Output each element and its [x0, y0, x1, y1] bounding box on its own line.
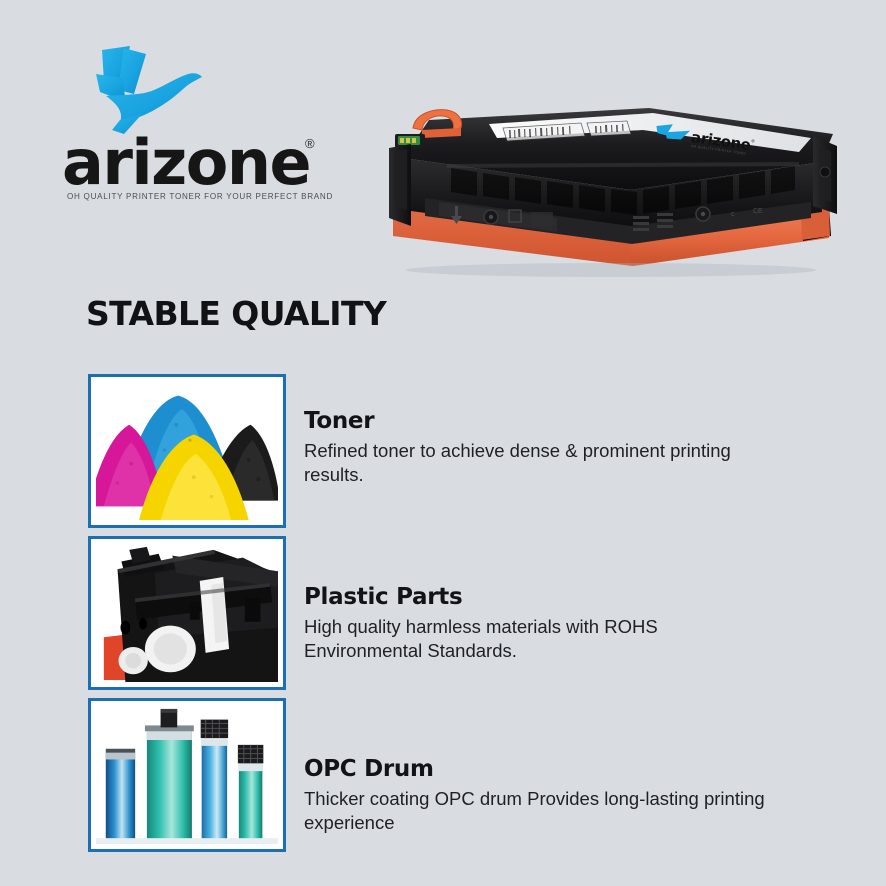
- feature-item-opc-drum: OPC Drum Thicker coating OPC drum Provid…: [88, 698, 808, 852]
- section-heading: STABLE QUALITY: [86, 294, 386, 333]
- feature-item-plastic-parts: Plastic Parts High quality harmless mate…: [88, 536, 808, 690]
- feature-list: Toner Refined toner to achieve dense & p…: [88, 374, 808, 860]
- plastic-parts-text-block: Plastic Parts High quality harmless mate…: [286, 536, 808, 663]
- brand-tagline: OH QUALITY PRINTER TONER FOR YOUR PERFEC…: [67, 192, 329, 201]
- brand-logo-block: arizone ® OH QUALITY PRINTER TONER FOR Y…: [62, 44, 332, 204]
- opc-drum-text-block: OPC Drum Thicker coating OPC drum Provid…: [286, 698, 808, 835]
- toner-cartridge-image: arizone ® OH QUALITY PRINTER TONER: [381, 86, 843, 284]
- toner-text-block: Toner Refined toner to achieve dense & p…: [286, 374, 808, 487]
- feature-title-toner: Toner: [304, 408, 808, 434]
- feature-description-opc-drum: Thicker coating OPC drum Provides long-l…: [304, 787, 774, 835]
- hummingbird-icon: [90, 44, 206, 136]
- feature-description-toner: Refined toner to achieve dense & promine…: [304, 439, 774, 487]
- svg-text:CE: CE: [753, 208, 763, 215]
- plastic-parts-thumbnail: [88, 536, 286, 690]
- registered-trademark-icon: ®: [305, 136, 315, 151]
- toner-thumbnail: [88, 374, 286, 528]
- opc-drum-thumbnail: [88, 698, 286, 852]
- svg-text:c: c: [731, 211, 735, 218]
- feature-title-plastic-parts: Plastic Parts: [304, 584, 808, 610]
- brand-wordmark: arizone: [62, 132, 332, 194]
- header-banner: arizone ® OH QUALITY PRINTER TONER FOR Y…: [0, 0, 886, 288]
- feature-description-plastic-parts: High quality harmless materials with ROH…: [304, 615, 774, 663]
- feature-item-toner: Toner Refined toner to achieve dense & p…: [88, 374, 808, 528]
- feature-title-opc-drum: OPC Drum: [304, 756, 808, 782]
